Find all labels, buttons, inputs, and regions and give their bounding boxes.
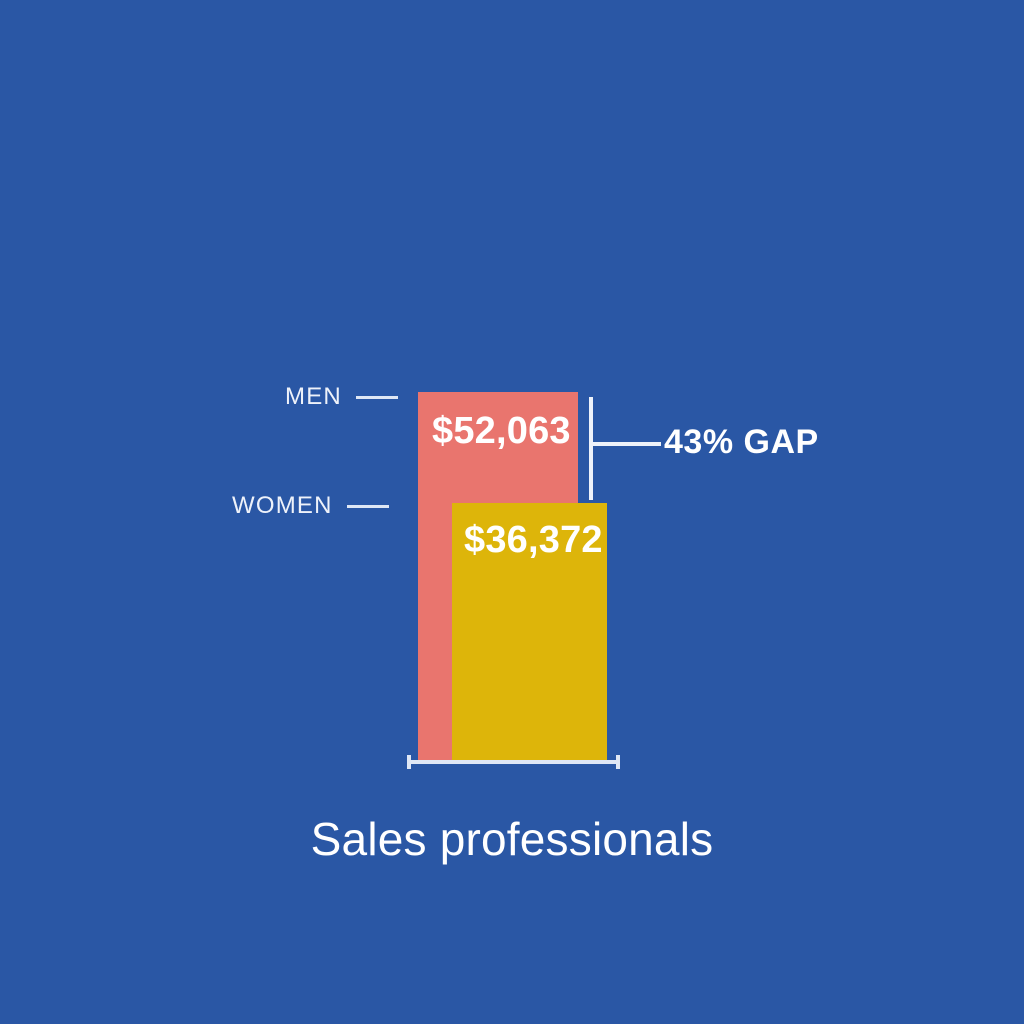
gender-pay-gap-chart: $52,063 $36,372 MEN WOMEN 43% GAP Sales … [0, 0, 1024, 1024]
leader-line-icon-men [356, 396, 398, 399]
series-callout-men: MEN [285, 383, 398, 411]
leader-line-icon-women [347, 505, 389, 508]
gap-annotation-label: 43% GAP [664, 420, 819, 464]
baseline-cap-left-icon [407, 755, 411, 769]
bar-value-label-women: $36,372 [464, 517, 603, 563]
series-label-women: WOMEN [232, 492, 333, 520]
gap-tick-icon [589, 442, 661, 446]
gap-bracket-icon [589, 397, 593, 500]
chart-title: Sales professionals [0, 812, 1024, 866]
series-label-men: MEN [285, 383, 342, 411]
baseline-axis [407, 760, 620, 764]
series-callout-women: WOMEN [232, 492, 389, 520]
baseline-cap-right-icon [616, 755, 620, 769]
bar-value-label-men: $52,063 [432, 408, 571, 454]
